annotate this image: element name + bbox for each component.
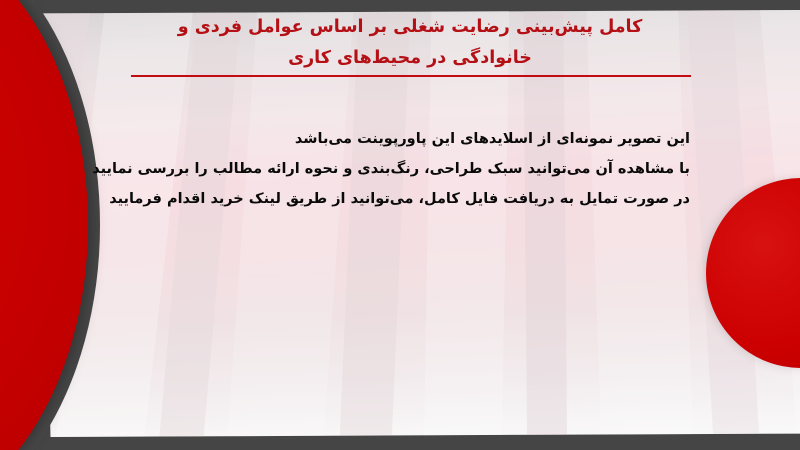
right-red-circle-decoration [706, 178, 800, 368]
body-line-3: در صورت تمایل به دریافت فایل کامل، می‌تو… [90, 184, 690, 214]
slide-title: کامل پیش‌بینی رضایت شغلی بر اساس عوامل ف… [120, 12, 700, 74]
title-line-1: کامل پیش‌بینی رضایت شغلی بر اساس عوامل ف… [120, 12, 700, 43]
body-line-1: این تصویر نمونه‌ای از اسلایدهای این پاور… [90, 124, 690, 154]
presentation-slide: کامل پیش‌بینی رضایت شغلی بر اساس عوامل ف… [0, 0, 800, 450]
body-line-2: با مشاهده آن می‌توانید سبک طراحی، رنگ‌بن… [90, 154, 690, 184]
slide-body-text: این تصویر نمونه‌ای از اسلایدهای این پاور… [90, 124, 690, 214]
title-line-2: خانوادگی در محیط‌های کاری [120, 43, 700, 74]
title-divider-rule [131, 75, 691, 77]
